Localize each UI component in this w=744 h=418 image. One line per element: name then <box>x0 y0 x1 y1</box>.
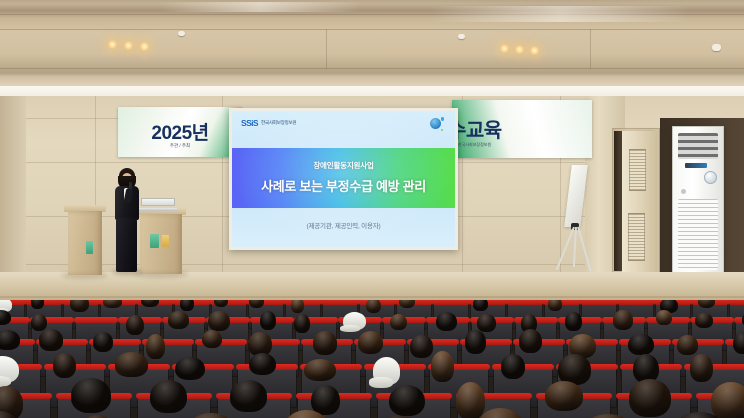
banner-right-text: 수교육 <box>452 114 592 143</box>
ceiling-downlight <box>530 46 539 55</box>
side-podium-sticker <box>86 241 93 254</box>
audience-member <box>31 314 47 331</box>
audience-member <box>628 334 653 355</box>
audience-member <box>656 310 672 325</box>
door-vent-lower <box>628 213 645 261</box>
audience-member <box>249 353 276 376</box>
audience-member <box>53 353 76 379</box>
audience-member <box>313 331 338 355</box>
easel-board <box>564 165 588 227</box>
microphone-icon <box>129 182 132 189</box>
ceiling-downlight <box>124 41 133 50</box>
audience-member <box>180 300 194 311</box>
door-vent-upper <box>629 149 646 191</box>
audience-member <box>71 378 111 413</box>
audience-member <box>126 315 144 335</box>
audience-member <box>304 359 337 381</box>
audience-member <box>545 381 583 411</box>
audience-member <box>0 330 20 350</box>
audience-member <box>410 335 433 357</box>
audience-member <box>389 385 425 417</box>
slide-supertitle: 장애인활동지원사업 <box>232 160 455 171</box>
banner-right-subtext: 한국사회보장정보원 <box>458 142 592 148</box>
organization-logo: SSiS 한국사회보장정보원 <box>241 118 296 128</box>
ssis-logo-name: 한국사회보장정보원 <box>261 120 296 126</box>
audience-member <box>93 332 113 352</box>
audience-member <box>294 314 310 333</box>
audience-member <box>711 382 744 418</box>
podium-sticker-2 <box>162 235 169 247</box>
audience-member <box>390 314 407 331</box>
audience-member <box>291 300 305 313</box>
slide-top-band <box>232 111 455 148</box>
side-podium <box>68 205 102 275</box>
banner-left-subtext: 주관 / 주최 <box>118 143 242 149</box>
banner-left: 2025년 주관 / 주최 <box>118 107 242 157</box>
ceiling-downlight <box>500 44 509 53</box>
audience-member <box>146 334 165 359</box>
audience-member <box>677 335 699 355</box>
presenter-speaking <box>110 168 144 274</box>
audience-member <box>473 300 488 311</box>
audience-member <box>465 330 486 354</box>
ac-lower-louvers <box>678 199 718 270</box>
banner-left-text: 2025년 <box>118 118 242 145</box>
ac-dial-icon[interactable] <box>704 171 717 184</box>
banner-right: 수교육 한국사회보장정보원 <box>452 100 592 158</box>
audience-member <box>230 380 267 412</box>
audience-member <box>115 352 149 376</box>
audience-member <box>168 311 189 329</box>
easel-leg <box>573 227 577 267</box>
audience-member <box>202 330 222 349</box>
projection-screen: SSiS 한국사회보장정보원 장애인활동지원사업 사례로 보는 부정수급 예방 … <box>229 108 458 250</box>
audience-member <box>358 331 383 354</box>
audience-member <box>436 312 457 331</box>
smoke-detector <box>178 31 185 36</box>
audience-member <box>39 329 63 350</box>
podium-sticker <box>150 234 159 248</box>
side-door[interactable] <box>622 131 658 272</box>
presentation-slide: SSiS 한국사회보장정보원 장애인활동지원사업 사례로 보는 부정수급 예방 … <box>232 111 455 247</box>
audience-member <box>150 380 187 413</box>
ac-brand-badge <box>685 163 707 168</box>
easel-leg <box>556 227 575 270</box>
presenter-legs <box>116 218 137 272</box>
easel-leg <box>577 227 591 272</box>
ac-vent-grill <box>678 133 718 159</box>
audience-member <box>565 312 582 331</box>
audience-member <box>399 300 415 308</box>
audience-member <box>558 354 592 385</box>
speaker-podium <box>140 208 182 274</box>
audience-member-cap <box>373 357 400 384</box>
audience-member <box>477 314 496 332</box>
audience-member <box>519 329 542 353</box>
audience-member <box>695 313 713 328</box>
presenter-laptop[interactable] <box>141 198 175 211</box>
slide-title: 사례로 보는 부정수급 예방 관리 <box>232 176 455 195</box>
audience-member <box>70 300 89 312</box>
audience-member <box>548 300 562 311</box>
audience-member <box>690 354 713 382</box>
audience-member <box>456 382 485 418</box>
audience-member <box>175 357 205 380</box>
audience-member <box>501 354 525 380</box>
audience-area <box>0 300 744 418</box>
audience-member <box>208 311 230 331</box>
standing-air-conditioner <box>672 126 724 278</box>
audience-member <box>103 300 122 308</box>
ceiling-downlight <box>515 45 524 54</box>
audience-member <box>260 311 276 331</box>
audience-member <box>31 300 45 309</box>
audience-member <box>629 379 671 417</box>
audience-member <box>733 332 744 354</box>
audience-member-cap <box>343 312 366 330</box>
blue-circle-emblem-icon <box>430 117 444 131</box>
ssis-logo-mark: SSiS <box>241 118 258 128</box>
ceiling-downlight <box>108 40 117 49</box>
ac-power-knob[interactable] <box>681 189 686 194</box>
audience-member <box>431 351 455 382</box>
ceiling-downlight <box>140 42 149 51</box>
smoke-detector <box>712 44 721 51</box>
flipchart-easel <box>556 165 596 273</box>
smoke-detector <box>458 34 465 39</box>
auditorium-photo: 2025년 주관 / 주최 수교육 한국사회보장정보원 SSiS 한국사회보장정… <box>0 0 744 418</box>
audience-member <box>366 300 381 313</box>
audience-member <box>613 310 634 330</box>
slide-subtitle: (제공기관, 제공인력, 이용자) <box>232 220 455 230</box>
